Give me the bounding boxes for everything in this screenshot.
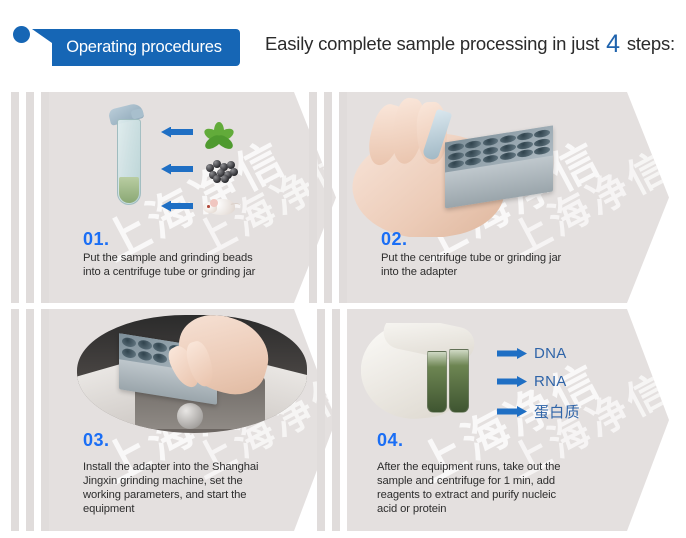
step-04-caption: 04. After the equipment runs, take out t… bbox=[377, 431, 560, 516]
arrow-right-icon bbox=[497, 348, 527, 359]
headline-step-count: 4 bbox=[604, 30, 622, 58]
sample-row-animal bbox=[161, 194, 241, 218]
card-stripes-decoration bbox=[309, 309, 349, 531]
card-stripes-decoration bbox=[11, 92, 51, 303]
headline-prefix: Easily complete sample processing in jus… bbox=[265, 33, 604, 54]
output-row-rna: RNA bbox=[497, 373, 567, 390]
output-label-rna: RNA bbox=[534, 373, 567, 390]
stripe-1 bbox=[11, 92, 19, 303]
step-02-photo bbox=[347, 92, 617, 237]
badge-dot-icon bbox=[13, 26, 30, 43]
step-card-01[interactable]: 上海净信 上海净信 bbox=[11, 92, 336, 303]
step-01-caption: 01. Put the sample and grinding beads in… bbox=[83, 230, 255, 279]
stripe-1 bbox=[309, 92, 317, 303]
operating-procedures-badge: Operating procedures bbox=[32, 29, 240, 66]
grinding-beads-icon bbox=[203, 156, 239, 182]
step-card-03[interactable]: 上海净信 上海净信 bbox=[11, 309, 336, 531]
step-number: 01. bbox=[83, 230, 255, 249]
step-02-caption: 02. Put the centrifuge tube or grinding … bbox=[381, 230, 561, 279]
stripe-2 bbox=[332, 309, 340, 531]
stripe-2 bbox=[26, 309, 34, 531]
step-description: After the equipment runs, take out the s… bbox=[377, 460, 560, 516]
steps-grid: 上海净信 上海净信 bbox=[0, 86, 686, 538]
sample-row-plant bbox=[161, 118, 235, 146]
stripe-3 bbox=[41, 309, 49, 531]
arrow-left-icon bbox=[161, 164, 193, 175]
stripe-1 bbox=[11, 309, 19, 531]
step-03-photo bbox=[77, 315, 307, 433]
stripe-2 bbox=[324, 92, 332, 303]
card-stripes-decoration bbox=[11, 309, 51, 531]
tube-sample-fill bbox=[119, 177, 139, 203]
adapter-holes bbox=[445, 125, 553, 172]
arrow-right-icon bbox=[497, 406, 527, 417]
output-label-dna: DNA bbox=[534, 345, 567, 362]
sample-tube-photo bbox=[449, 349, 469, 413]
output-label-protein: 蛋白质 bbox=[534, 401, 580, 422]
card-stripes-decoration bbox=[309, 92, 349, 303]
page-title: Easily complete sample processing in jus… bbox=[265, 30, 675, 59]
step-04-photo bbox=[361, 323, 497, 427]
tube-body bbox=[117, 119, 141, 205]
step-number: 02. bbox=[381, 230, 561, 249]
arrow-right-icon bbox=[497, 376, 527, 387]
badge-label: Operating procedures bbox=[66, 38, 222, 57]
machine-knob bbox=[177, 403, 203, 429]
step-03-caption: 03. Install the adapter into the Shangha… bbox=[83, 431, 258, 516]
step-number: 03. bbox=[83, 431, 258, 450]
card-body-02: 上海净信 上海净信 bbox=[347, 92, 669, 303]
card-body-01: 上海净信 上海净信 bbox=[49, 92, 336, 303]
step-card-02[interactable]: 上海净信 上海净信 bbox=[309, 92, 669, 303]
step-description: Put the sample and grinding beads into a… bbox=[83, 251, 255, 279]
step-card-04[interactable]: 上海净信 上海净信 DNA RNA 蛋白质 04. bbox=[309, 309, 669, 531]
step-number: 04. bbox=[377, 431, 560, 450]
card-body-03: 上海净信 上海净信 bbox=[49, 309, 336, 531]
step-description: Put the centrifuge tube or grinding jar … bbox=[381, 251, 561, 279]
stripe-1 bbox=[317, 309, 325, 531]
arrow-left-icon bbox=[161, 127, 193, 138]
stripe-3 bbox=[339, 92, 347, 303]
output-row-protein: 蛋白质 bbox=[497, 401, 580, 422]
card-body-04: 上海净信 上海净信 DNA RNA 蛋白质 04. bbox=[347, 309, 669, 531]
step-01-illustration bbox=[49, 92, 336, 232]
arrow-left-icon bbox=[161, 201, 193, 212]
sample-tube-photo bbox=[427, 351, 447, 413]
stripe-2 bbox=[26, 92, 34, 303]
leaf-icon bbox=[203, 118, 235, 146]
sample-row-beads bbox=[161, 156, 239, 182]
step-description: Install the adapter into the Shanghai Ji… bbox=[83, 460, 258, 516]
output-row-dna: DNA bbox=[497, 345, 567, 362]
stripe-3 bbox=[41, 92, 49, 303]
centrifuge-tube-icon bbox=[107, 106, 149, 214]
page-header: Operating procedures Easily complete sam… bbox=[0, 0, 686, 86]
mouse-icon bbox=[203, 194, 241, 218]
headline-suffix: steps: bbox=[622, 33, 675, 54]
